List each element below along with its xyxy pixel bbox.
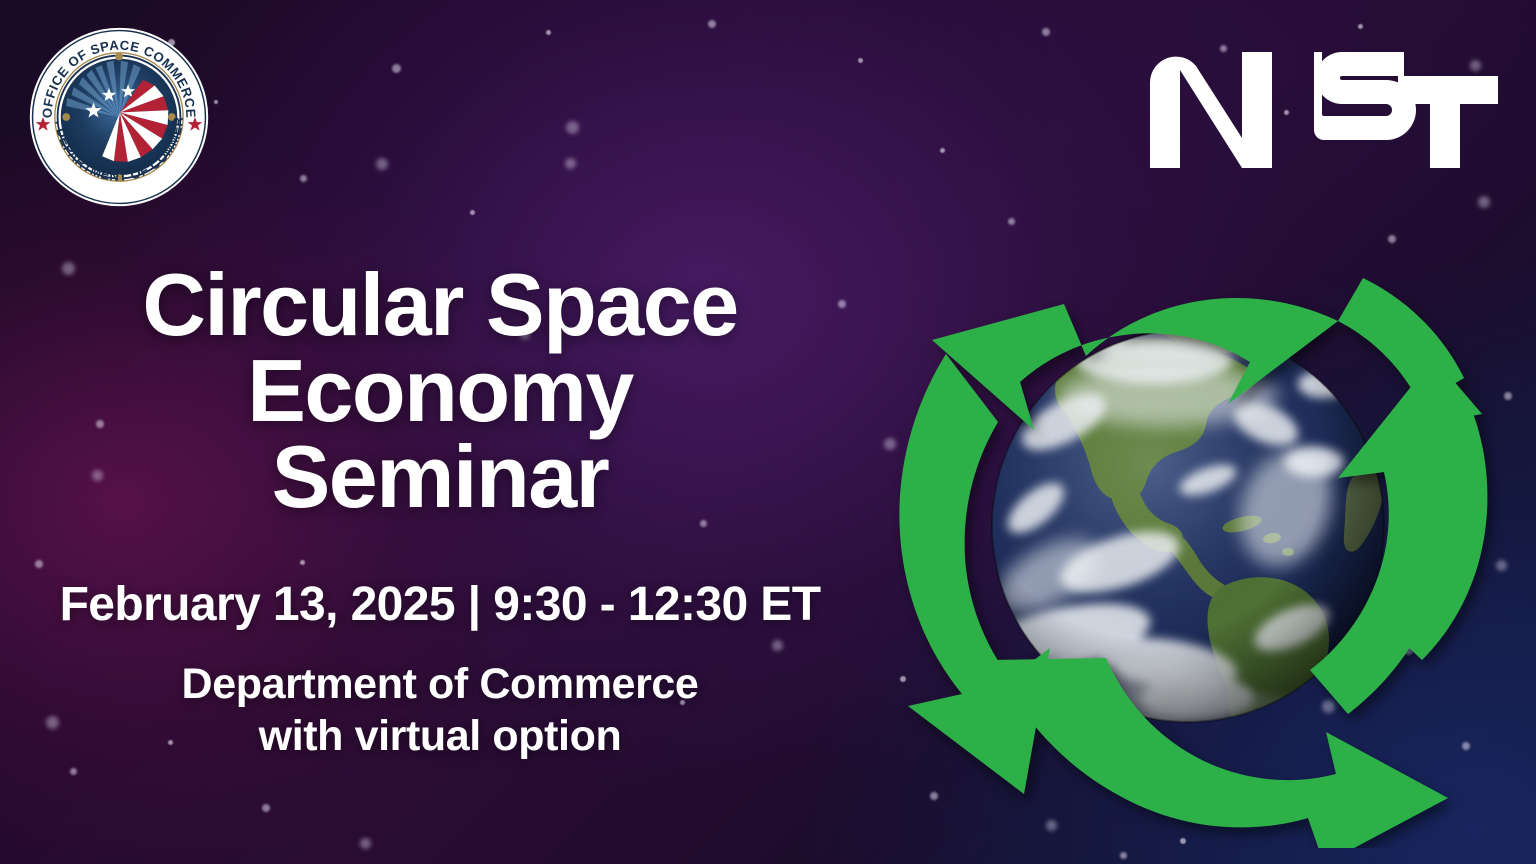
title-line-1: Circular Space — [0, 262, 880, 348]
event-text-block: Circular Space Economy Seminar February … — [0, 262, 880, 763]
title-line-3: Seminar — [0, 434, 880, 520]
office-of-space-commerce-seal: OFFICE OF SPACE COMMERCE U.S. DEPARTMENT… — [28, 26, 210, 208]
location-line-1: Department of Commerce — [0, 658, 880, 710]
nist-logo: NIST — [1146, 52, 1498, 168]
event-datetime: February 13, 2025 | 9:30 - 12:30 ET — [0, 577, 880, 632]
page-title: Circular Space Economy Seminar — [0, 262, 880, 521]
event-poster: OFFICE OF SPACE COMMERCE U.S. DEPARTMENT… — [0, 0, 1536, 864]
location-line-2: with virtual option — [0, 710, 880, 762]
recycling-earth-graphic — [868, 208, 1508, 848]
event-location: Department of Commerce with virtual opti… — [0, 658, 880, 763]
title-line-2: Economy — [0, 348, 880, 434]
